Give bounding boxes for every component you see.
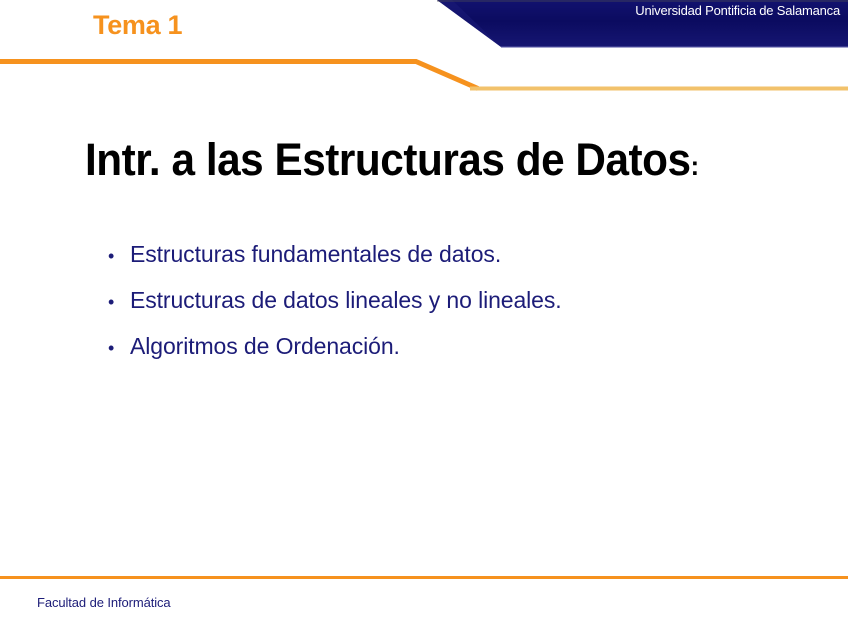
list-item-label: Algoritmos de Ordenación. [130, 324, 400, 368]
footer-divider [0, 576, 848, 579]
bullet-point-icon: • [108, 234, 130, 278]
list-item: • Algoritmos de Ordenación. [108, 324, 562, 370]
page-title-colon: : [691, 151, 699, 181]
university-name-label: Universidad Pontificia de Salamanca [635, 3, 840, 18]
list-item: • Estructuras de datos lineales y no lin… [108, 278, 562, 324]
page-title-text: Intr. a las Estructuras de Datos [85, 134, 691, 185]
presentation-slide: Universidad Pontificia de Salamanca Tema… [0, 0, 848, 636]
bullet-list: • Estructuras fundamentales de datos. • … [108, 232, 562, 370]
header-divider-line [0, 50, 848, 98]
topic-label: Tema 1 [93, 10, 182, 41]
page-title: Intr. a las Estructuras de Datos: [85, 134, 699, 186]
list-item-label: Estructuras fundamentales de datos. [130, 232, 501, 276]
list-item: • Estructuras fundamentales de datos. [108, 232, 562, 278]
bullet-point-icon: • [108, 326, 130, 370]
list-item-label: Estructuras de datos lineales y no linea… [130, 278, 562, 322]
footer-label: Facultad de Informática [37, 595, 171, 610]
bullet-point-icon: • [108, 280, 130, 324]
